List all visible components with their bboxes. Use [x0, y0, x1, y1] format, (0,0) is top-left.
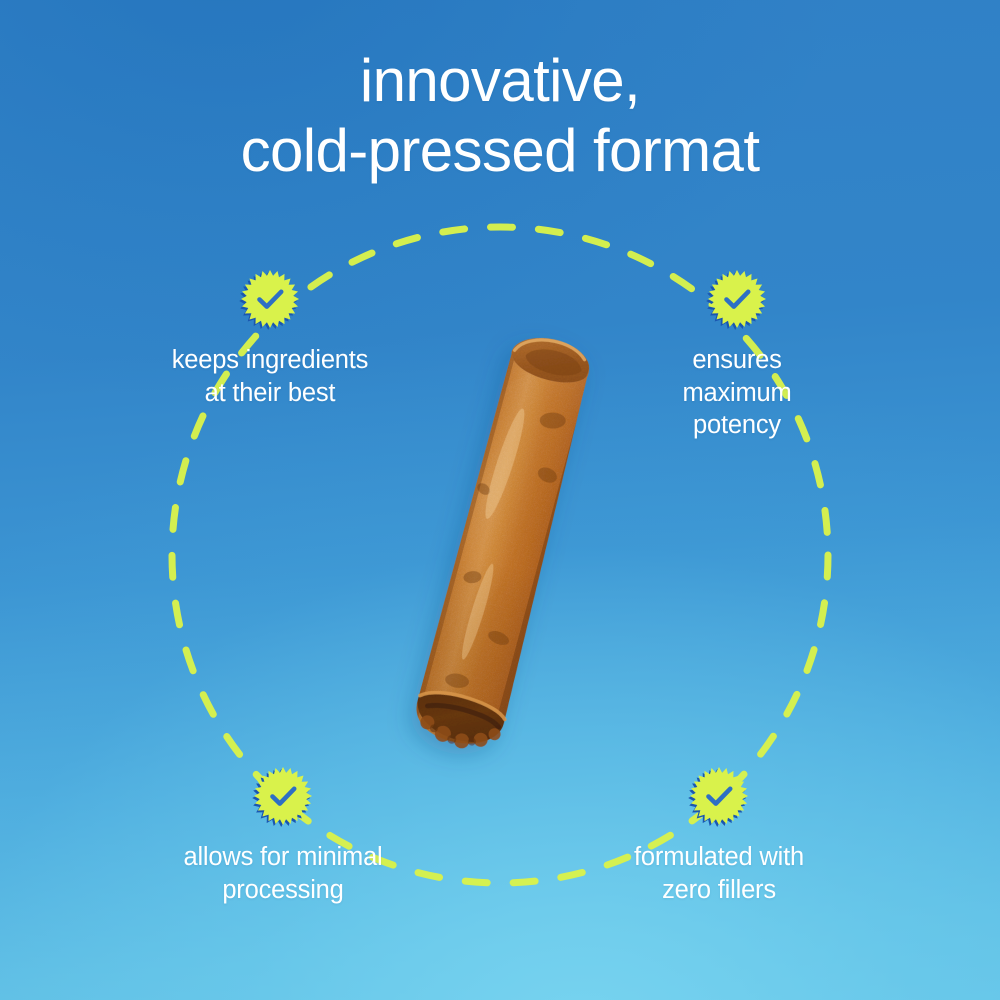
feature-keeps-ingredients: keeps ingredients at their best	[105, 268, 435, 409]
check-badge-icon	[239, 268, 301, 330]
feature-label: allows for minimal processing	[118, 841, 448, 906]
feature-zero-fillers: formulated with zero fillers	[554, 765, 884, 906]
feature-label: ensures maximum potency	[572, 344, 902, 442]
check-badge-icon	[252, 765, 314, 827]
feature-minimal-processing: allows for minimal processing	[118, 765, 448, 906]
feature-label: keeps ingredients at their best	[105, 344, 435, 409]
check-badge-icon	[688, 765, 750, 827]
feature-label: formulated with zero fillers	[554, 841, 884, 906]
page-title: innovative, cold-pressed format	[0, 46, 1000, 186]
promo-graphic: innovative, cold-pressed format keeps in…	[0, 0, 1000, 1000]
feature-ensures-potency: ensures maximum potency	[572, 268, 902, 442]
check-badge-icon	[706, 268, 768, 330]
